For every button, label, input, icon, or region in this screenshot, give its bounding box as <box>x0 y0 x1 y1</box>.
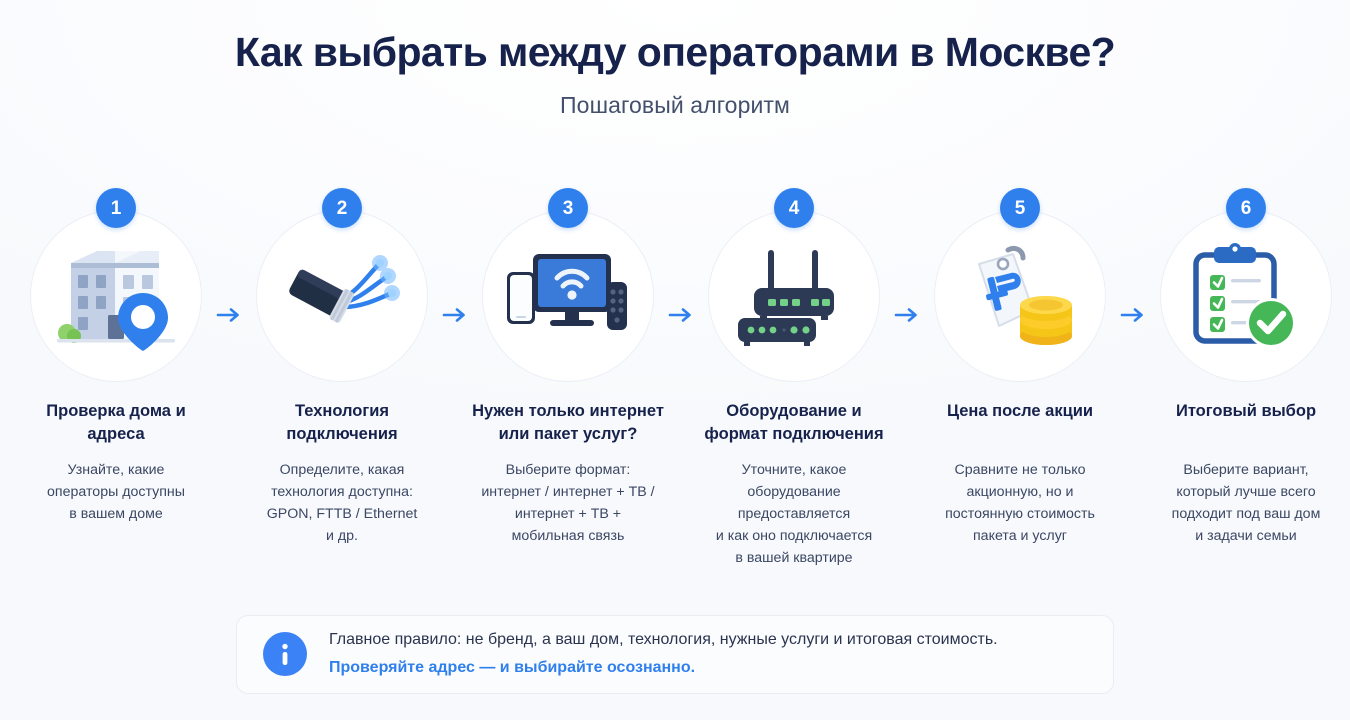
step-5-icon-circle <box>934 210 1106 382</box>
note-line-primary: Главное правило: не бренд, а ваш дом, те… <box>329 630 998 651</box>
step-1-icon-circle <box>30 210 202 382</box>
step-3-title: Нужен только интернет или пакет услуг? <box>470 400 666 446</box>
arrow-2-to-3 <box>440 306 470 324</box>
summary-note: Главное правило: не бренд, а ваш дом, те… <box>236 615 1114 694</box>
step-4-title: Оборудование и формат подключения <box>696 400 892 446</box>
step-3: 3 <box>470 188 666 547</box>
step-6: 6 <box>1148 188 1344 547</box>
page-title: Как выбрать между операторами в Москве? <box>0 30 1350 76</box>
arrow-4-to-5 <box>892 306 922 324</box>
page-subtitle: Пошаговый алгоритм <box>0 92 1350 119</box>
arrow-3-to-4 <box>666 306 696 324</box>
step-4-icon-circle <box>708 210 880 382</box>
price-tag-ruble-coins-icon <box>961 242 1079 350</box>
step-1-desc: Узнайте, какие операторы доступны в ваше… <box>47 459 185 525</box>
step-3-desc: Выберите формат: интернет / интернет + Т… <box>481 459 654 547</box>
router-icon <box>732 244 856 348</box>
step-3-icon-circle <box>482 210 654 382</box>
step-5-title: Цена после акции <box>947 400 1093 446</box>
step-5: 5 <box>922 188 1118 547</box>
step-2-number-badge: 2 <box>322 188 362 228</box>
building-location-pin-icon <box>53 241 179 351</box>
arrow-1-to-2 <box>214 306 244 324</box>
step-1-title: Проверка дома и адреса <box>18 400 214 446</box>
header: Как выбрать между операторами в Москве? … <box>0 0 1350 119</box>
fiber-optic-cable-icon <box>280 243 404 349</box>
infographic-page: Как выбрать между операторами в Москве? … <box>0 0 1350 720</box>
step-5-desc: Сравните не только акционную, но и посто… <box>945 459 1095 547</box>
step-1-number-badge: 1 <box>96 188 136 228</box>
step-4: 4 <box>696 188 892 569</box>
step-1: 1 <box>18 188 214 525</box>
info-icon <box>263 632 307 676</box>
step-3-number-badge: 3 <box>548 188 588 228</box>
clipboard-checklist-icon <box>1188 241 1304 351</box>
note-line-highlight: Проверяйте адрес — и выбирайте осознанно… <box>329 658 998 679</box>
step-6-desc: Выберите вариант, который лучше всего по… <box>1172 459 1321 547</box>
tv-phone-wifi-icon <box>503 244 633 348</box>
step-5-number-badge: 5 <box>1000 188 1040 228</box>
note-text-block: Главное правило: не бренд, а ваш дом, те… <box>329 630 998 679</box>
step-6-icon-circle <box>1160 210 1332 382</box>
step-4-number-badge: 4 <box>774 188 814 228</box>
steps-row: 1 <box>18 188 1332 569</box>
step-4-desc: Уточните, какое оборудование предоставля… <box>696 459 892 569</box>
arrow-5-to-6 <box>1118 306 1148 324</box>
step-6-number-badge: 6 <box>1226 188 1266 228</box>
step-6-title: Итоговый выбор <box>1176 400 1316 446</box>
step-2-desc: Определите, какая технология доступна: G… <box>267 459 418 547</box>
step-2-title: Технология подключения <box>244 400 440 446</box>
step-2-icon-circle <box>256 210 428 382</box>
step-2: 2 <box>244 188 440 547</box>
